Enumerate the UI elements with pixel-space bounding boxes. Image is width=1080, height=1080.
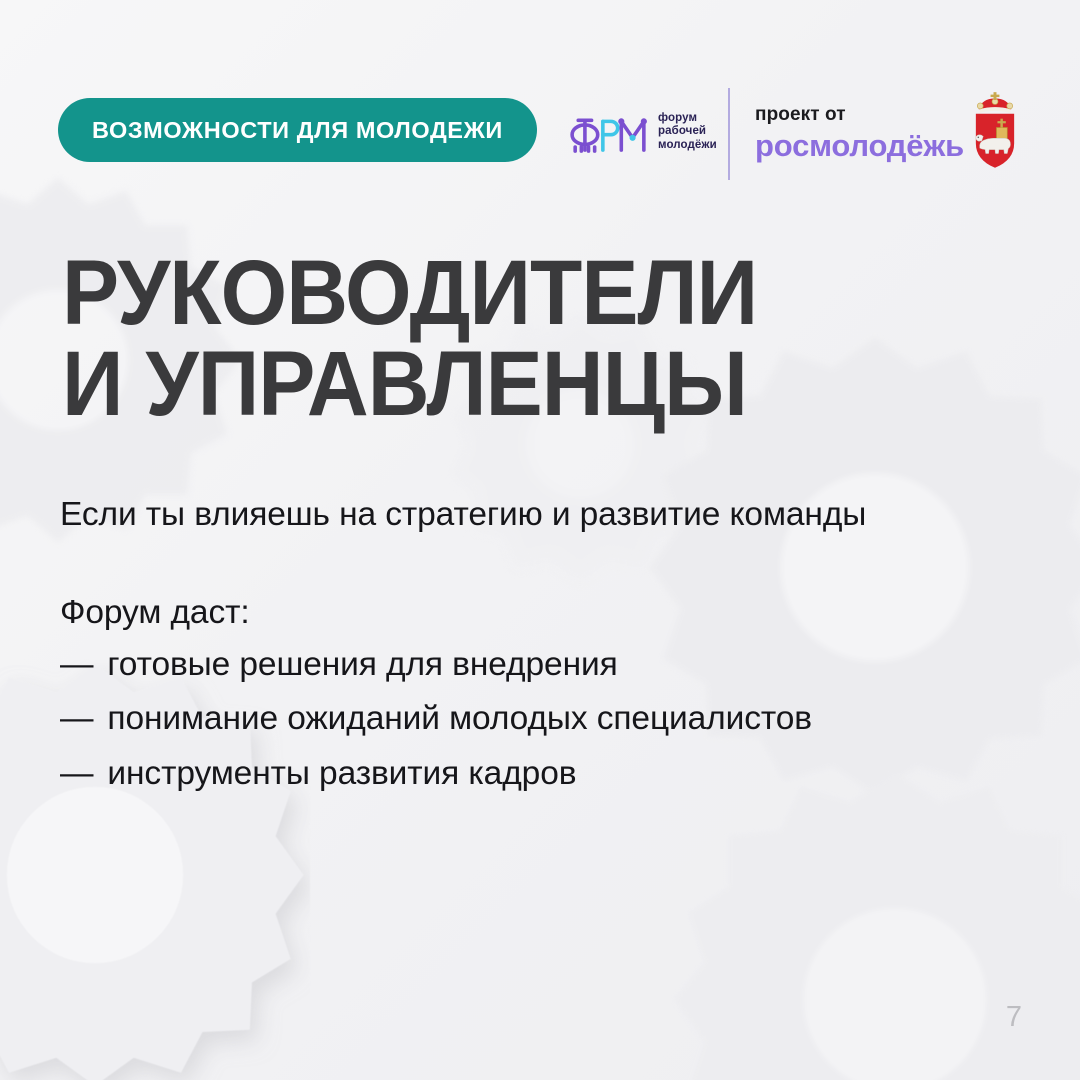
page-number: 7 xyxy=(1006,1001,1022,1034)
slide-canvas: возможности для молодежи xyxy=(0,0,1080,1080)
bullet-dash-icon: — xyxy=(60,648,93,682)
list-item-label: готовые решения для внедрения xyxy=(107,648,617,682)
forum-benefits-list: — готовые решения для внедрения — понима… xyxy=(60,648,1050,791)
bullet-dash-icon: — xyxy=(60,702,93,736)
slide-content: РУКОВОДИТЕЛИ И УПРАВЛЕНЦЫ Если ты влияеш… xyxy=(0,0,1080,1080)
list-item: — готовые решения для внедрения xyxy=(60,648,1050,682)
bullet-dash-icon: — xyxy=(60,757,93,791)
forum-benefits-block: Форум даст: — готовые решения для внедре… xyxy=(60,596,1050,790)
page-title: РУКОВОДИТЕЛИ И УПРАВЛЕНЦЫ xyxy=(62,248,955,430)
forum-benefits-title: Форум даст: xyxy=(60,596,1050,630)
lead-paragraph: Если ты влияешь на стратегию и развитие … xyxy=(60,494,1050,536)
list-item-label: инструменты развития кадров xyxy=(107,757,576,791)
list-item: — инструменты развития кадров xyxy=(60,757,1050,791)
list-item-label: понимание ожиданий молодых специалистов xyxy=(107,702,812,736)
page-title-line-2: И УПРАВЛЕНЦЫ xyxy=(62,339,955,430)
page-title-line-1: РУКОВОДИТЕЛИ xyxy=(62,248,955,339)
list-item: — понимание ожиданий молодых специалисто… xyxy=(60,702,1050,736)
